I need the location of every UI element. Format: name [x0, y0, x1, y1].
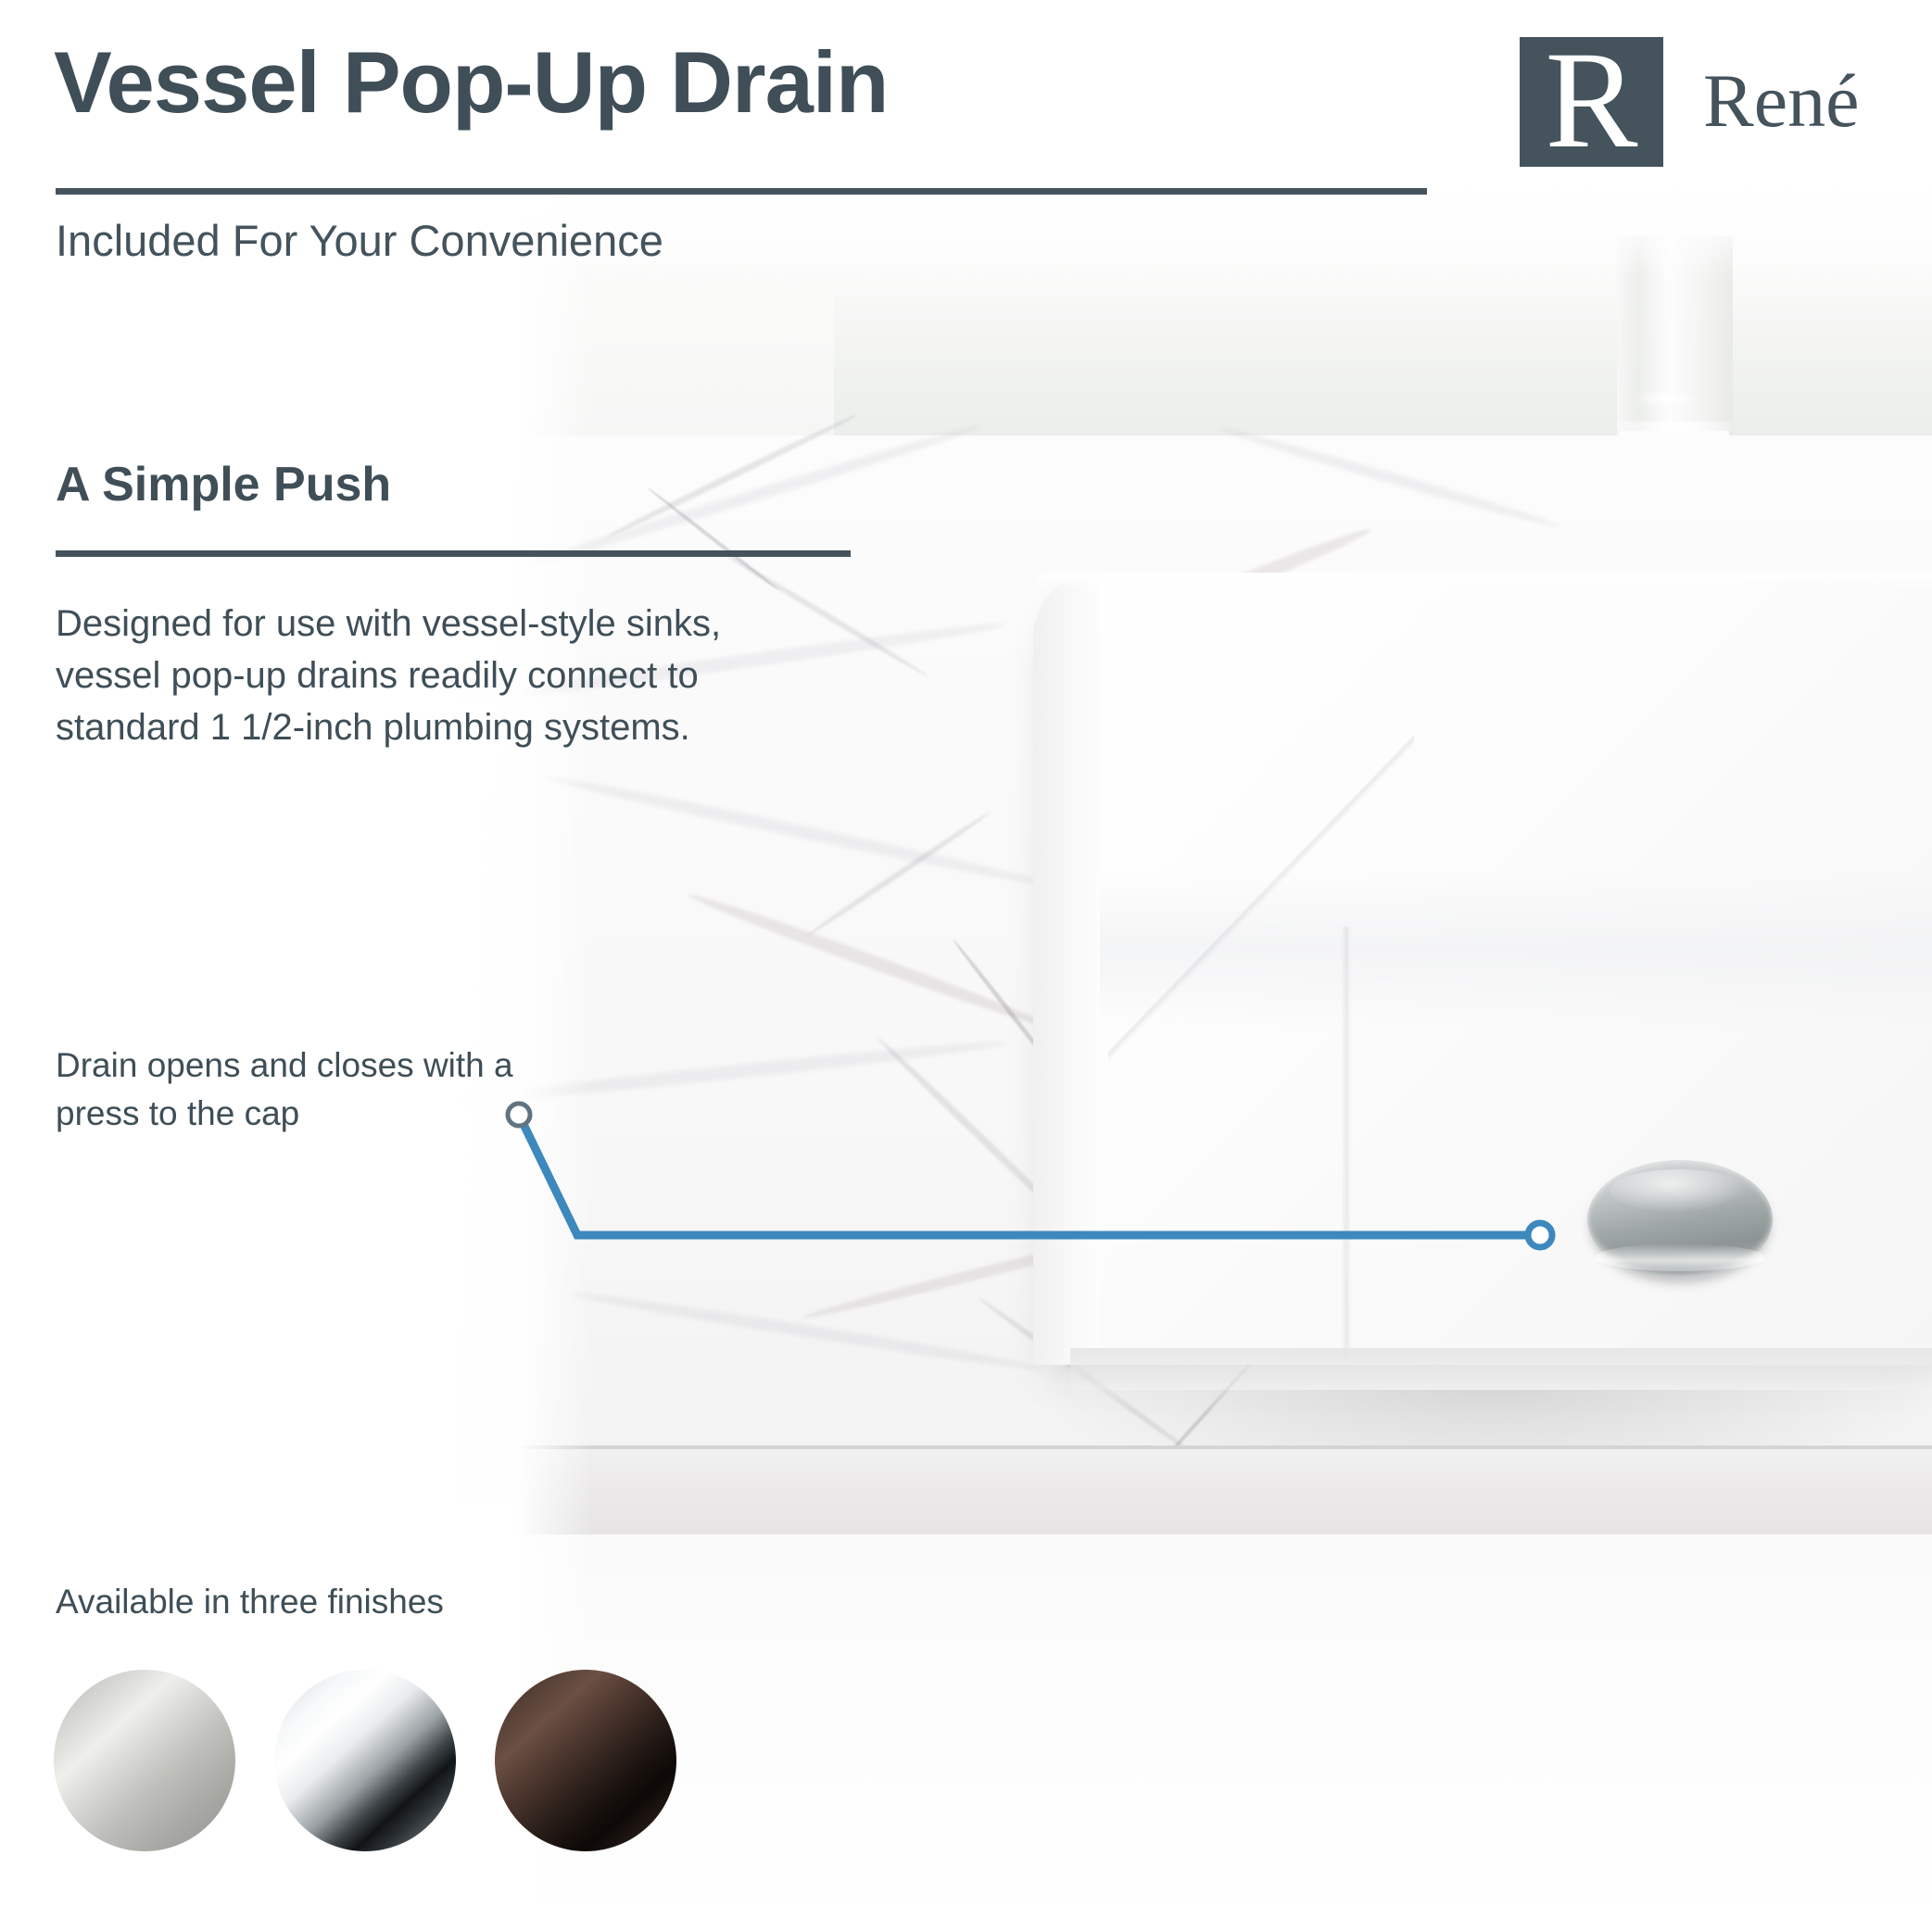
- sink-interior-fold-center: [1325, 927, 1368, 1362]
- countertop-edge-line: [519, 1445, 1932, 1449]
- faucet-highlight: [1633, 389, 1699, 408]
- finishes-label: Available in three finishes: [56, 1584, 444, 1619]
- page-subtitle: Included For Your Convenience: [56, 219, 663, 262]
- left-text-backdrop: [0, 0, 593, 1931]
- brand-name: René: [1703, 63, 1859, 139]
- title-divider: [56, 188, 1427, 195]
- drain-cap-sheen: [1610, 1169, 1749, 1212]
- drain-cap-lip: [1595, 1243, 1765, 1271]
- brand-mark-square: R: [1520, 37, 1663, 167]
- finish-swatch-brushed-nickel[interactable]: [54, 1670, 235, 1851]
- brand-lockup: R René: [1520, 37, 1890, 167]
- section-body: Designed for use with vessel-style sinks…: [56, 598, 825, 753]
- faucet-seam: [1617, 422, 1733, 431]
- section-body-line: Designed for use with vessel-style sinks…: [56, 598, 825, 650]
- finish-swatch-oil-rubbed-bronze[interactable]: [495, 1670, 676, 1851]
- sink-interior-fold-left: [1108, 639, 1414, 1158]
- callout-label: Drain opens and closes with a press to t…: [56, 1041, 649, 1138]
- sink-rim-highlight: [1033, 573, 1932, 589]
- page-title: Vessel Pop-Up Drain: [54, 39, 888, 126]
- finish-swatch-chrome[interactable]: [274, 1670, 456, 1851]
- callout-line: Drain opens and closes with a: [56, 1041, 649, 1090]
- section-divider: [56, 550, 851, 557]
- countertop-front-edge: [519, 1445, 1932, 1534]
- sink-left-wall: [1033, 573, 1100, 1365]
- infographic-page: Vessel Pop-Up Drain Included For Your Co…: [0, 0, 1932, 1931]
- callout-line: press to the cap: [56, 1090, 649, 1138]
- header: Vessel Pop-Up Drain Included For Your Co…: [0, 0, 1932, 278]
- section-heading: A Simple Push: [56, 461, 391, 509]
- section-body-line: standard 1 1/2-inch plumbing systems.: [56, 701, 825, 753]
- brand-mark-letter-r: R: [1520, 37, 1663, 167]
- section-body-line: vessel pop-up drains readily connect to: [56, 650, 825, 701]
- under-counter-area: [519, 1534, 1932, 1931]
